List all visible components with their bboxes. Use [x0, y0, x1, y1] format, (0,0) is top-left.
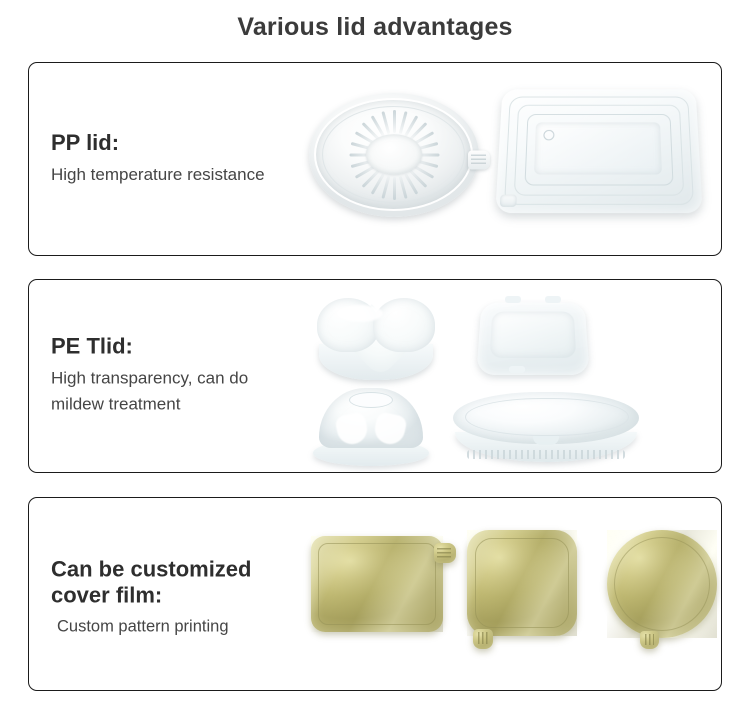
panel-pp-lid-description: High temperature resistance [51, 162, 341, 188]
pp-round-center-hub [366, 134, 422, 174]
pe-dome-straw-hole [349, 392, 393, 408]
film-square-pull-tab [473, 629, 493, 649]
pe-oval-inner-ring [465, 398, 629, 436]
panel-cover-film: Can be customized cover film: Custom pat… [28, 497, 722, 691]
pe-heart-highlight [337, 305, 383, 322]
dome-cup-pe-lid-image [313, 388, 429, 468]
film-rect-pull-tab [434, 543, 456, 563]
panel-cover-film-description: Custom pattern printing [51, 614, 341, 640]
film-circle-seal-lip [614, 537, 710, 631]
panel-cover-film-heading: Can be customized cover film: [51, 556, 341, 608]
pe-square-bump-bottom [509, 366, 525, 373]
panel-pe-lid-artwork [301, 280, 721, 472]
panel-pe-lid-description: High transparency, can do mildew treatme… [51, 366, 341, 419]
panel-pp-lid: PP lid: High temperature resistance [28, 62, 722, 256]
pp-rect-flat-face [534, 122, 662, 174]
panel-pp-lid-text: PP lid: High temperature resistance [51, 130, 341, 188]
pp-round-pull-tab [468, 150, 490, 169]
pe-square-bump-left [505, 296, 521, 303]
film-square-seal-lip [475, 538, 569, 628]
square-gold-cover-film-image [467, 530, 577, 636]
panel-pe-lid-heading: PE Tlid: [51, 334, 341, 360]
panel-cover-film-text: Can be customized cover film: Custom pat… [51, 556, 341, 639]
rectangular-gold-cover-film-image [311, 536, 443, 632]
square-pe-lid-image [479, 298, 587, 376]
film-circle-pull-tab [640, 631, 659, 649]
round-ribbed-pp-lid-image [309, 93, 479, 217]
panel-cover-film-artwork [301, 498, 721, 690]
rectangular-pp-lid-image [495, 89, 702, 213]
pe-square-top-face [490, 312, 577, 358]
pe-heart-dome [317, 296, 435, 358]
page-title: Various lid advantages [0, 0, 750, 42]
panel-pe-lid-text: PE Tlid: High transparency, can do milde… [51, 334, 341, 419]
panel-pp-lid-heading: PP lid: [51, 130, 341, 156]
film-rect-seal-lip [318, 543, 436, 625]
pe-square-bump-right [545, 296, 561, 303]
panel-pp-lid-artwork [301, 63, 721, 255]
pe-oval-rim-ribs [467, 450, 625, 459]
circular-gold-cover-film-image [607, 530, 717, 638]
oval-pe-lid-image [453, 392, 639, 462]
pp-rect-corner-notch [500, 195, 517, 207]
pe-heart-lobe-right [373, 298, 435, 352]
pe-oval-center-dip [533, 436, 559, 445]
panel-pe-lid: PE Tlid: High transparency, can do milde… [28, 279, 722, 473]
heart-shaped-pe-lid-image [317, 296, 435, 380]
